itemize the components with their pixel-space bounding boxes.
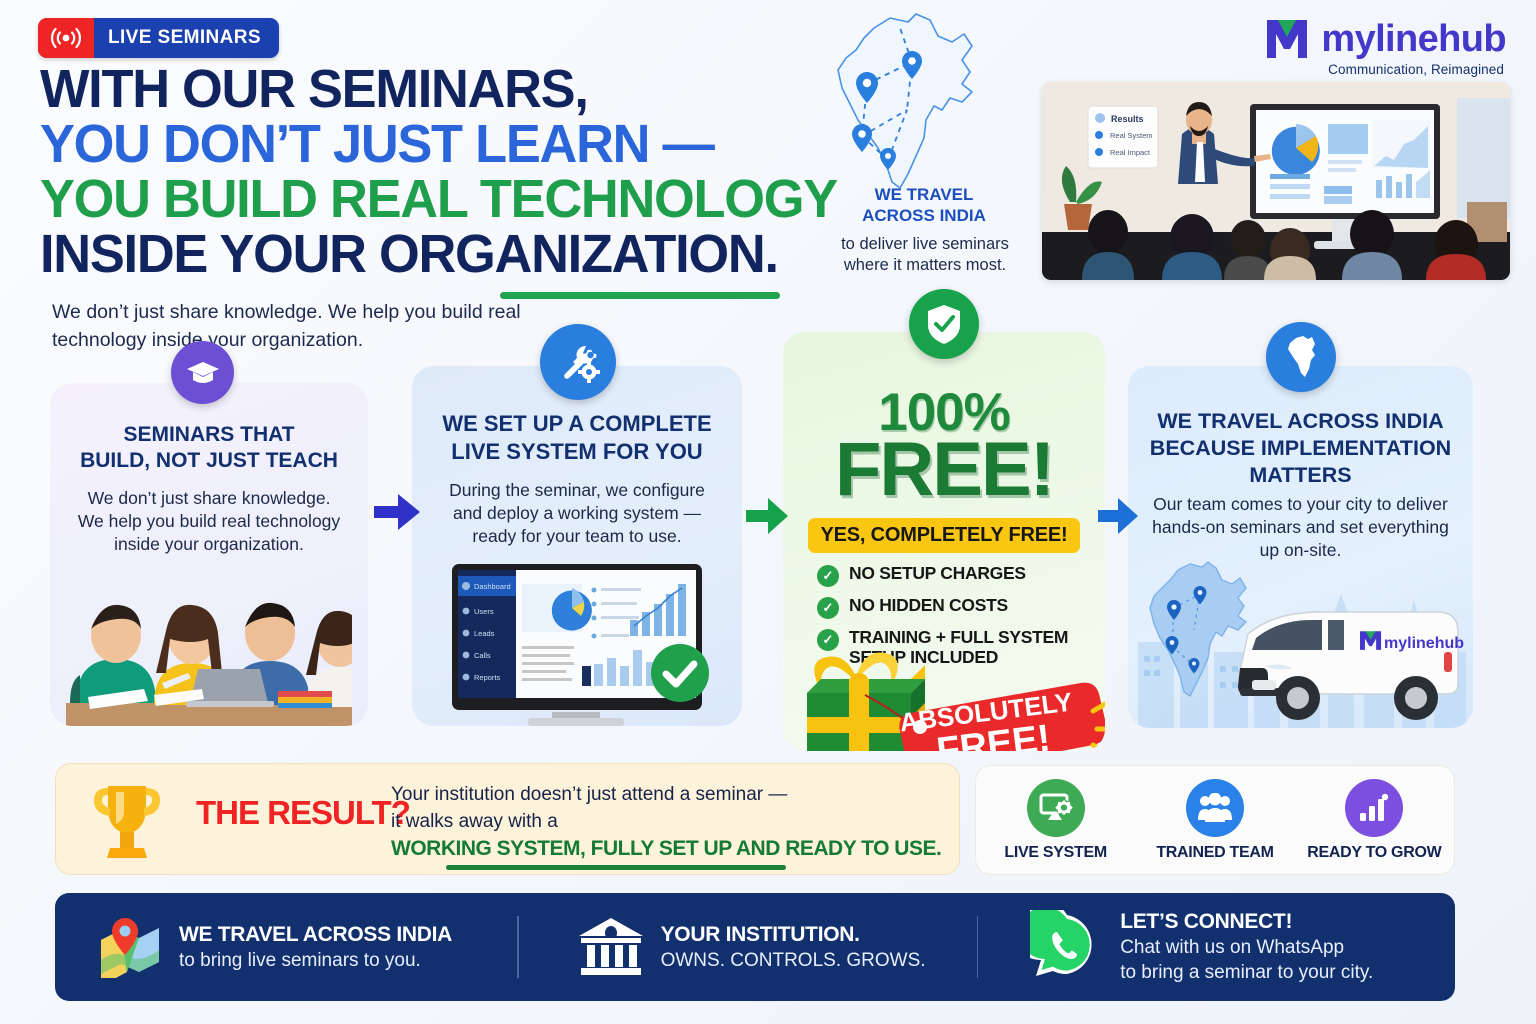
headline-line-3: YOU BUILD REAL TECHNOLOGY — [40, 172, 806, 227]
map-caption-title-l2: ACROSS INDIA — [812, 205, 1036, 226]
svg-text:Results: Results — [1111, 114, 1144, 124]
logo-tagline: Communication, Reimagined — [1328, 62, 1504, 77]
india-route-map: WE TRAVEL ACROSS INDIA to deliver live s… — [812, 6, 1042, 291]
footer-bar: WE TRAVEL ACROSS INDIA to bring live sem… — [55, 893, 1455, 1001]
headline-line-4: INSIDE YOUR ORGANIZATION. — [40, 227, 806, 282]
trophy-icon — [84, 778, 170, 864]
map-caption-sub-l2: where it matters most. — [808, 255, 1042, 276]
mylinehub-mark-icon — [1262, 14, 1312, 64]
feature-pill-group: LIVE SYSTEM TRAINED TEAM RE — [975, 765, 1455, 875]
desktop-dashboard-illustration: DashboardUsers LeadsCallsReports — [444, 546, 714, 726]
benefit-item: ✓ NO SETUP CHARGES — [817, 564, 1091, 587]
check-circle-icon: ✓ — [817, 597, 839, 619]
svg-text:Calls: Calls — [474, 651, 491, 660]
svg-text:Real Impact: Real Impact — [1110, 148, 1151, 157]
result-banner: THE RESULT? Your institution doesn’t jus… — [55, 763, 960, 875]
result-line-3: WORKING SYSTEM, FULLY SET UP AND READY T… — [391, 837, 941, 861]
map-caption-sub-l1: to deliver live seminars — [808, 234, 1042, 255]
step-card-live-system-setup[interactable]: WE SET UP A COMPLETE LIVE SYSTEM FOR YOU… — [412, 366, 742, 726]
footer-divider — [517, 916, 519, 978]
pill-label: LIVE SYSTEM — [1004, 844, 1107, 862]
footer-sub: to bring live seminars to you. — [179, 950, 452, 972]
card2-title-l2: LIVE SYSTEM FOR YOU — [426, 439, 728, 465]
wrench-gear-icon — [540, 324, 616, 400]
card1-desc-l1: We don’t just share knowledge. — [64, 487, 354, 510]
van-logo-text: mylinehub — [1384, 635, 1464, 652]
delivery-van-illustration: mylinehub — [1128, 556, 1473, 728]
footer-segment-institution[interactable]: YOUR INSTITUTION. OWNS. CONTROLS. GROWS. — [577, 916, 977, 978]
headline-line-2: YOU DON’T JUST LEARN — — [40, 117, 806, 172]
graduation-cap-icon — [171, 341, 234, 404]
completely-free-banner: YES, COMPLETELY FREE! — [808, 518, 1080, 553]
headline-line-1: WITH OUR SEMINARS, — [40, 62, 806, 117]
map-caption-sub: to deliver live seminars where it matter… — [808, 234, 1042, 277]
step-card-seminars-that-build[interactable]: SEMINARS THAT BUILD, NOT JUST TEACH We d… — [50, 383, 368, 726]
arrow-card2-to-card3 — [744, 492, 790, 545]
svg-text:Users: Users — [474, 607, 494, 616]
monitor-gear-icon — [1027, 779, 1085, 837]
card2-title-l1: WE SET UP A COMPLETE — [426, 411, 728, 437]
card4-desc-l1: Our team comes to your city to deliver — [1142, 493, 1459, 516]
map-caption-title-l1: WE TRAVEL — [812, 184, 1036, 205]
card1-title-l1: SEMINARS THAT — [64, 423, 354, 448]
card4-title-l1: WE TRAVEL ACROSS INDIA — [1142, 409, 1459, 434]
benefit-label: NO SETUP CHARGES — [849, 564, 1026, 584]
arrow-card1-to-card2 — [372, 486, 424, 543]
result-text-block: Your institution doesn’t just attend a s… — [391, 782, 787, 835]
headline-subtext: We don’t just share knowledge. We help y… — [52, 298, 522, 355]
infographic-canvas: LIVE SEMINARS WITH OUR SEMINARS, YOU DON… — [0, 0, 1536, 1024]
headline-underline — [500, 292, 780, 299]
step-card-100-percent-free[interactable]: 100% FREE! YES, COMPLETELY FREE! ✓ NO SE… — [783, 332, 1105, 751]
footer-sub: OWNS. CONTROLS. GROWS. — [661, 950, 926, 972]
free-big-headline: FREE! — [783, 426, 1105, 513]
check-circle-icon: ✓ — [817, 565, 839, 587]
card2-desc-l2: and deploy a working system — — [426, 502, 728, 525]
svg-text:Real System: Real System — [1110, 131, 1153, 140]
result-line-1: Your institution doesn’t just attend a s… — [391, 782, 787, 809]
arrow-card3-to-card4 — [1096, 492, 1140, 545]
benefit-label: NO HIDDEN COSTS — [849, 596, 1008, 616]
card2-desc-l1: During the seminar, we configure — [426, 479, 728, 502]
result-label: THE RESULT? — [196, 794, 410, 832]
map-pin-icon — [97, 916, 163, 978]
seminar-room-photo: Results Real System Real Impact — [1042, 82, 1510, 280]
svg-text:Reports: Reports — [474, 673, 501, 682]
result-line-2: it walks away with a — [391, 809, 787, 836]
india-map-icon — [1266, 322, 1336, 392]
footer-title: LET’S CONNECT! — [1120, 910, 1373, 934]
pill-label: TRAINED TEAM — [1156, 844, 1273, 862]
card1-title-l2: BUILD, NOT JUST TEACH — [64, 449, 354, 474]
students-group-illustration — [66, 571, 352, 726]
pill-ready-to-grow[interactable]: READY TO GROW — [1304, 779, 1444, 862]
shield-check-icon — [909, 289, 979, 359]
headline-block: WITH OUR SEMINARS, YOU DON’T JUST LEARN … — [40, 62, 830, 282]
footer-title: WE TRAVEL ACROSS INDIA — [179, 923, 452, 947]
step-card-travel-across-india[interactable]: WE TRAVEL ACROSS INDIA BECAUSE IMPLEMENT… — [1128, 366, 1473, 728]
bank-icon — [577, 916, 645, 978]
benefit-item: ✓ NO HIDDEN COSTS — [817, 596, 1091, 619]
live-seminars-label: LIVE SEMINARS — [94, 18, 279, 58]
gift-box-illustration: ABSOLUTELY FREE! — [787, 617, 1105, 751]
svg-text:Leads: Leads — [474, 629, 495, 638]
footer-segment-whatsapp[interactable]: LET’S CONNECT! Chat with us on WhatsApp … — [1030, 910, 1373, 984]
card1-desc-l3: inside your organization. — [64, 533, 354, 556]
card4-title-l3: MATTERS — [1142, 463, 1459, 488]
card2-desc-l3: ready for your team to use. — [426, 525, 728, 548]
card4-title-l2: BECAUSE IMPLEMENTATION — [1142, 436, 1459, 461]
brand-logo: mylinehub — [1262, 14, 1506, 64]
result-underline — [446, 865, 786, 870]
live-seminars-badge[interactable]: LIVE SEMINARS — [38, 18, 279, 58]
footer-divider — [977, 916, 979, 978]
svg-text:Dashboard: Dashboard — [474, 582, 511, 591]
logo-wordmark: mylinehub — [1321, 18, 1506, 61]
footer-sub: Chat with us on WhatsApp — [1120, 937, 1373, 959]
card1-desc-l2: We help you build real technology — [64, 510, 354, 533]
pill-live-system[interactable]: LIVE SYSTEM — [986, 779, 1126, 862]
footer-segment-travel[interactable]: WE TRAVEL ACROSS INDIA to bring live sem… — [97, 916, 517, 978]
pill-trained-team[interactable]: TRAINED TEAM — [1145, 779, 1285, 862]
footer-sub-2: to bring a seminar to your city. — [1120, 962, 1373, 984]
map-caption-title: WE TRAVEL ACROSS INDIA — [812, 184, 1036, 227]
broadcast-icon — [38, 18, 94, 58]
bar-chart-icon — [1345, 779, 1403, 837]
footer-title: YOUR INSTITUTION. — [661, 923, 926, 947]
pill-label: READY TO GROW — [1307, 844, 1441, 862]
card4-desc-l2: hands-on seminars and set everything — [1142, 516, 1459, 539]
whatsapp-icon — [1030, 910, 1104, 984]
people-group-icon — [1186, 779, 1244, 837]
